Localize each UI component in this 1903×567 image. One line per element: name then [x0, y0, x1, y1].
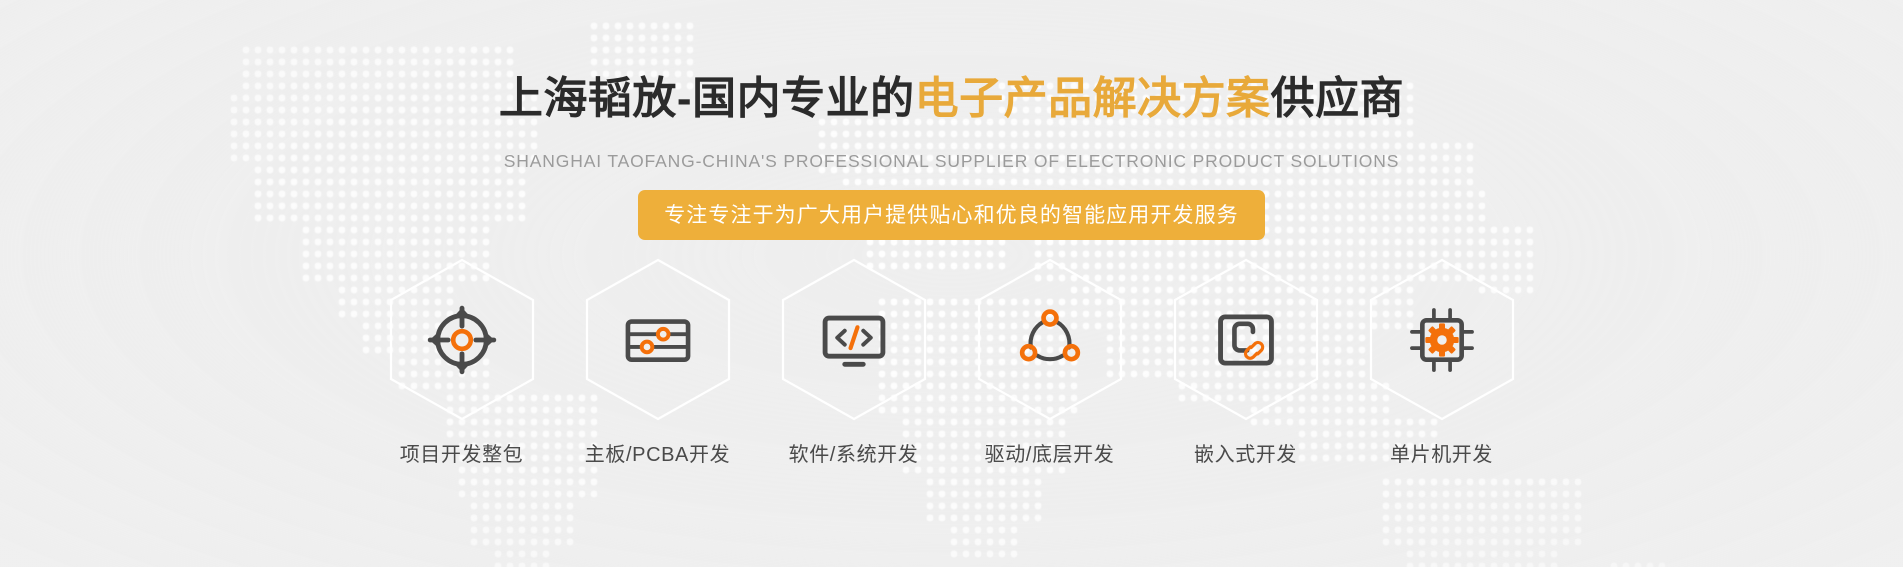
hexagon-frame — [1368, 258, 1516, 421]
service-label: 驱动/底层开发 — [985, 438, 1115, 467]
headline-part-highlight: 电子产品解决方案 — [915, 74, 1271, 123]
microchip-gear-icon — [1405, 303, 1479, 377]
service-item-software[interactable]: 软件/系统开发 — [756, 258, 952, 467]
service-item-mcu[interactable]: 单片机开发 — [1344, 258, 1540, 467]
banner-badge-wrapper: 专注专注于为广大用户提供贴心和优良的智能应用开发服务 — [0, 190, 1903, 240]
service-item-pcba[interactable]: 主板/PCBA开发 — [560, 258, 756, 467]
headline-part-1: 上海韬放-国内专业的 — [499, 74, 915, 123]
hero-banner: 上海韬放-国内专业的电子产品解决方案供应商 SHANGHAI TAOFANG-C… — [0, 0, 1903, 567]
service-label: 嵌入式开发 — [1194, 438, 1297, 467]
service-item-driver[interactable]: 驱动/底层开发 — [952, 258, 1148, 467]
banner-content: 上海韬放-国内专业的电子产品解决方案供应商 SHANGHAI TAOFANG-C… — [0, 0, 1903, 567]
hexagon-frame — [780, 258, 928, 421]
circuit-board-icon — [621, 303, 695, 377]
service-label: 单片机开发 — [1390, 438, 1493, 467]
hexagon-frame — [1172, 258, 1320, 421]
banner-headline: 上海韬放-国内专业的电子产品解决方案供应商 — [0, 74, 1903, 125]
headline-part-3: 供应商 — [1271, 74, 1405, 123]
banner-tagline-badge: 专注专注于为广大用户提供贴心和优良的智能应用开发服务 — [638, 190, 1265, 240]
service-label: 软件/系统开发 — [789, 438, 919, 467]
node-network-icon — [1013, 303, 1087, 377]
service-list: 项目开发整包 — [0, 258, 1903, 467]
embedded-chip-link-icon — [1209, 303, 1283, 377]
service-label: 项目开发整包 — [400, 438, 524, 467]
service-label: 主板/PCBA开发 — [585, 438, 730, 467]
banner-subtitle: SHANGHAI TAOFANG-CHINA'S PROFESSIONAL SU… — [0, 151, 1903, 172]
service-item-embedded[interactable]: 嵌入式开发 — [1148, 258, 1344, 467]
crosshair-target-icon — [425, 303, 499, 377]
hexagon-frame — [976, 258, 1124, 421]
service-item-project-package[interactable]: 项目开发整包 — [364, 258, 560, 467]
hexagon-frame — [584, 258, 732, 421]
monitor-code-icon — [817, 303, 891, 377]
hexagon-frame — [388, 258, 536, 421]
